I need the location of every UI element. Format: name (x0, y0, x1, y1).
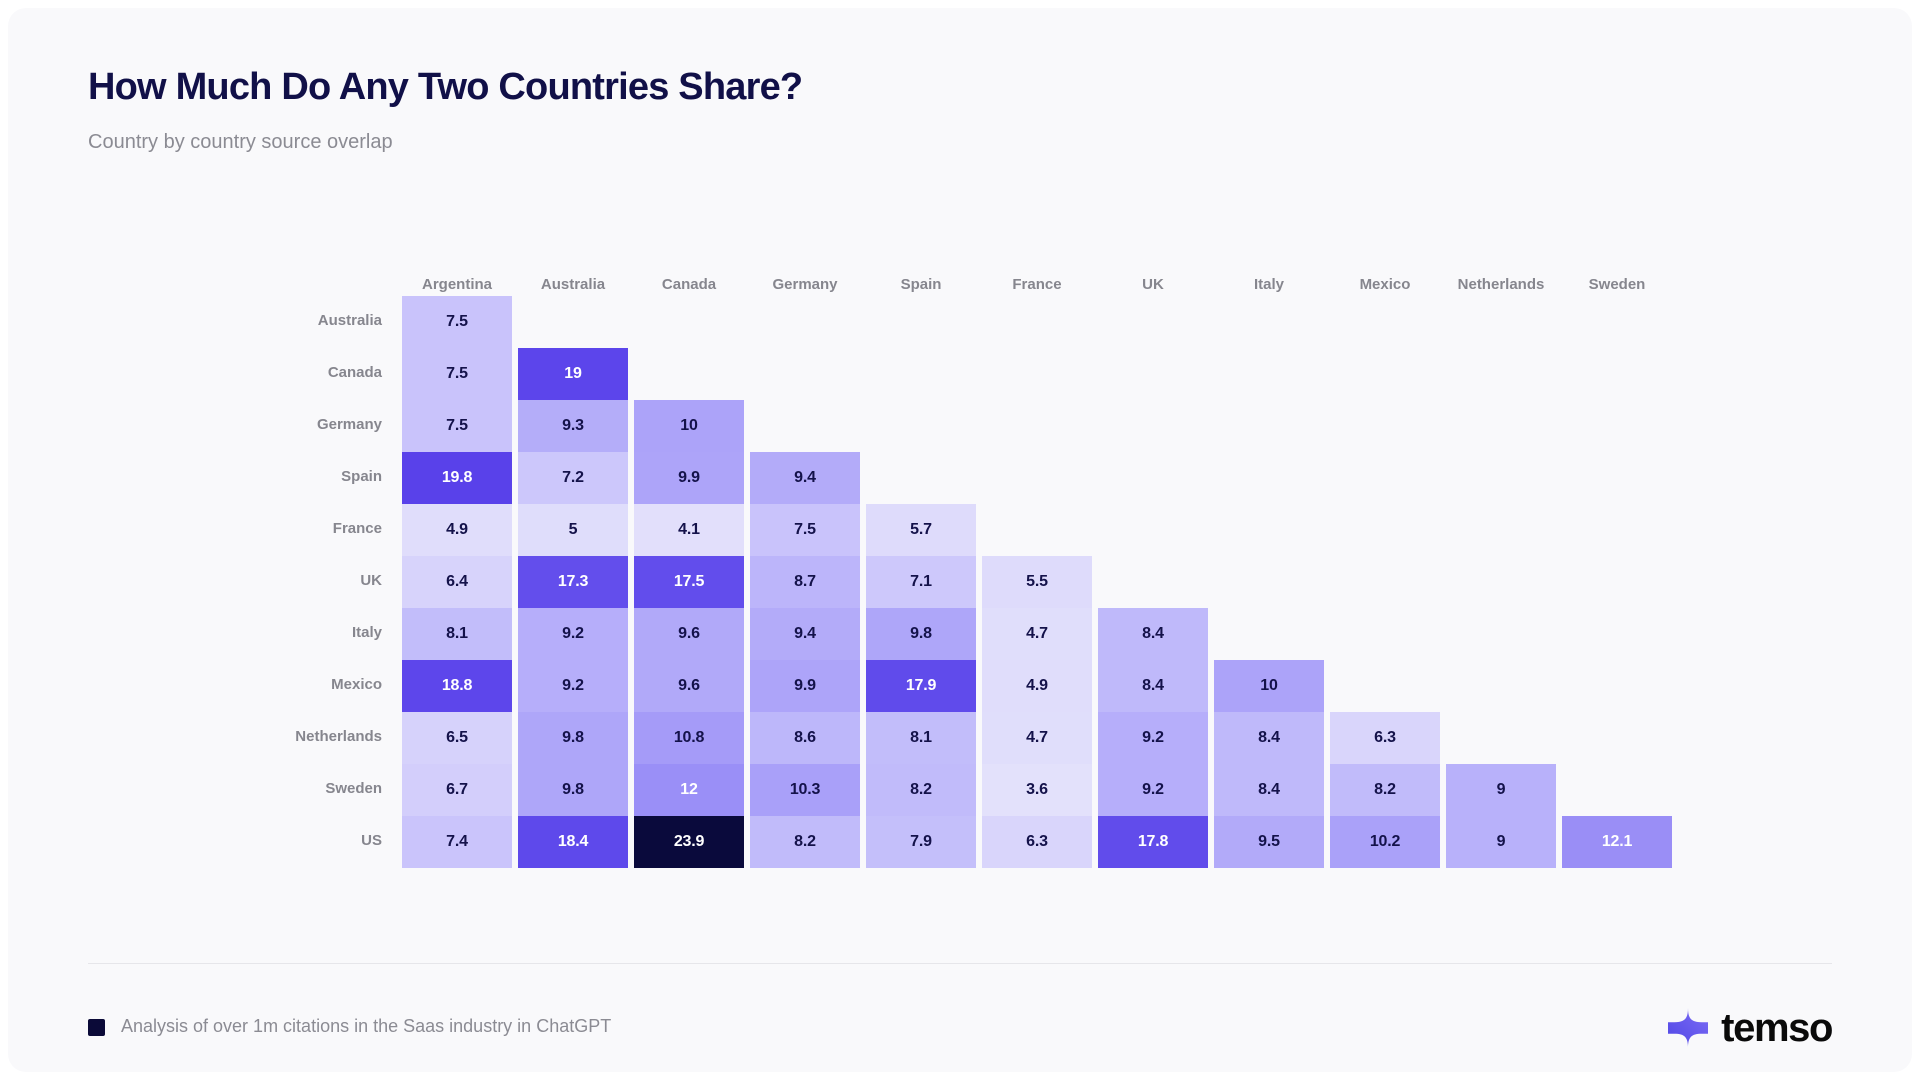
heatmap-cell[interactable]: 8.4 (1098, 660, 1208, 712)
row-header: Spain (182, 468, 382, 485)
heatmap-cell[interactable]: 4.1 (634, 504, 744, 556)
row-header: Germany (182, 416, 382, 433)
heatmap-cell[interactable]: 5.7 (866, 504, 976, 556)
chart-card: How Much Do Any Two Countries Share? Cou… (8, 8, 1912, 1072)
heatmap-cell[interactable]: 6.3 (982, 816, 1092, 868)
heatmap-cell[interactable]: 23.9 (634, 816, 744, 868)
temso-logo: temso (1668, 1005, 1832, 1051)
heatmap-cell[interactable]: 6.4 (402, 556, 512, 608)
heatmap-cell[interactable]: 9.3 (518, 400, 628, 452)
heatmap-cell[interactable]: 9.4 (750, 452, 860, 504)
heatmap-cell[interactable]: 10 (1214, 660, 1324, 712)
column-header: Australia (518, 276, 628, 293)
heatmap-cell[interactable]: 4.7 (982, 608, 1092, 660)
row-header: France (182, 520, 382, 537)
heatmap-cell[interactable]: 8.4 (1214, 712, 1324, 764)
heatmap-cell[interactable]: 9.9 (634, 452, 744, 504)
heatmap-cell[interactable]: 9.8 (866, 608, 976, 660)
heatmap-cell[interactable]: 17.8 (1098, 816, 1208, 868)
heatmap-cell[interactable]: 17.9 (866, 660, 976, 712)
sparkle-star-icon (1668, 1008, 1708, 1048)
column-header: Argentina (402, 276, 512, 293)
column-header: Spain (866, 276, 976, 293)
heatmap-cell[interactable]: 4.9 (982, 660, 1092, 712)
heatmap-cell[interactable]: 9.5 (1214, 816, 1324, 868)
heatmap-cell[interactable]: 6.5 (402, 712, 512, 764)
heatmap-cell[interactable]: 8.7 (750, 556, 860, 608)
heatmap-cell[interactable]: 19 (518, 348, 628, 400)
heatmap-cell[interactable]: 4.7 (982, 712, 1092, 764)
heatmap-cell[interactable]: 7.4 (402, 816, 512, 868)
row-header: US (182, 832, 382, 849)
heatmap-cell[interactable]: 8.2 (866, 764, 976, 816)
heatmap-cell[interactable]: 9.9 (750, 660, 860, 712)
heatmap-cell[interactable]: 7.5 (402, 296, 512, 348)
heatmap-cell[interactable]: 12.1 (1562, 816, 1672, 868)
heatmap-cell[interactable]: 8.1 (402, 608, 512, 660)
heatmap-cell[interactable]: 7.5 (402, 348, 512, 400)
heatmap-cell[interactable]: 9.6 (634, 608, 744, 660)
row-header: Sweden (182, 780, 382, 797)
heatmap-cell[interactable]: 9.4 (750, 608, 860, 660)
footer-divider (88, 963, 1832, 964)
heatmap-cell[interactable]: 9.2 (1098, 764, 1208, 816)
heatmap-cell[interactable]: 7.5 (402, 400, 512, 452)
heatmap-cell[interactable]: 6.7 (402, 764, 512, 816)
heatmap-cell[interactable]: 9 (1446, 816, 1556, 868)
column-header: Netherlands (1446, 276, 1556, 293)
heatmap-cell[interactable]: 10.2 (1330, 816, 1440, 868)
row-header: UK (182, 572, 382, 589)
column-header: Canada (634, 276, 744, 293)
heatmap-cell[interactable]: 5 (518, 504, 628, 556)
column-header: Sweden (1562, 276, 1672, 293)
heatmap-cell[interactable]: 9.2 (518, 660, 628, 712)
heatmap-cell[interactable]: 8.4 (1098, 608, 1208, 660)
heatmap-cell[interactable]: 18.8 (402, 660, 512, 712)
footer-note: Analysis of over 1m citations in the Saa… (121, 1016, 611, 1037)
heatmap-cell[interactable]: 19.8 (402, 452, 512, 504)
heatmap-cell[interactable]: 6.3 (1330, 712, 1440, 764)
heatmap-cell[interactable]: 12 (634, 764, 744, 816)
column-header: Germany (750, 276, 860, 293)
heatmap-cell[interactable]: 10 (634, 400, 744, 452)
heatmap-cell[interactable]: 7.2 (518, 452, 628, 504)
heatmap-cell[interactable]: 8.4 (1214, 764, 1324, 816)
heatmap-cell[interactable]: 8.6 (750, 712, 860, 764)
heatmap-cell[interactable]: 17.3 (518, 556, 628, 608)
heatmap-cell[interactable]: 7.1 (866, 556, 976, 608)
heatmap-cell[interactable]: 7.5 (750, 504, 860, 556)
row-header: Australia (182, 312, 382, 329)
column-header: France (982, 276, 1092, 293)
heatmap-cell[interactable]: 7.9 (866, 816, 976, 868)
heatmap-cell[interactable]: 8.2 (750, 816, 860, 868)
heatmap-cell[interactable]: 10.8 (634, 712, 744, 764)
heatmap-cell[interactable]: 9.6 (634, 660, 744, 712)
row-header: Netherlands (182, 728, 382, 745)
heatmap-plot: ArgentinaAustraliaCanadaGermanySpainFran… (8, 8, 1912, 1072)
heatmap-cell[interactable]: 8.2 (1330, 764, 1440, 816)
heatmap-cell[interactable]: 9.2 (1098, 712, 1208, 764)
row-header: Italy (182, 624, 382, 641)
heatmap-cell[interactable]: 8.1 (866, 712, 976, 764)
heatmap-cell[interactable]: 9.8 (518, 764, 628, 816)
column-header: Mexico (1330, 276, 1440, 293)
legend-swatch (88, 1019, 105, 1036)
column-header: Italy (1214, 276, 1324, 293)
column-header: UK (1098, 276, 1208, 293)
heatmap-cell[interactable]: 3.6 (982, 764, 1092, 816)
logo-wordmark: temso (1721, 1008, 1832, 1048)
row-header: Mexico (182, 676, 382, 693)
heatmap-cell[interactable]: 9.2 (518, 608, 628, 660)
heatmap-cell[interactable]: 4.9 (402, 504, 512, 556)
row-header: Canada (182, 364, 382, 381)
heatmap-cell[interactable]: 18.4 (518, 816, 628, 868)
heatmap-cell[interactable]: 5.5 (982, 556, 1092, 608)
heatmap-cell[interactable]: 9 (1446, 764, 1556, 816)
heatmap-cell[interactable]: 17.5 (634, 556, 744, 608)
heatmap-cell[interactable]: 10.3 (750, 764, 860, 816)
heatmap-cell[interactable]: 9.8 (518, 712, 628, 764)
